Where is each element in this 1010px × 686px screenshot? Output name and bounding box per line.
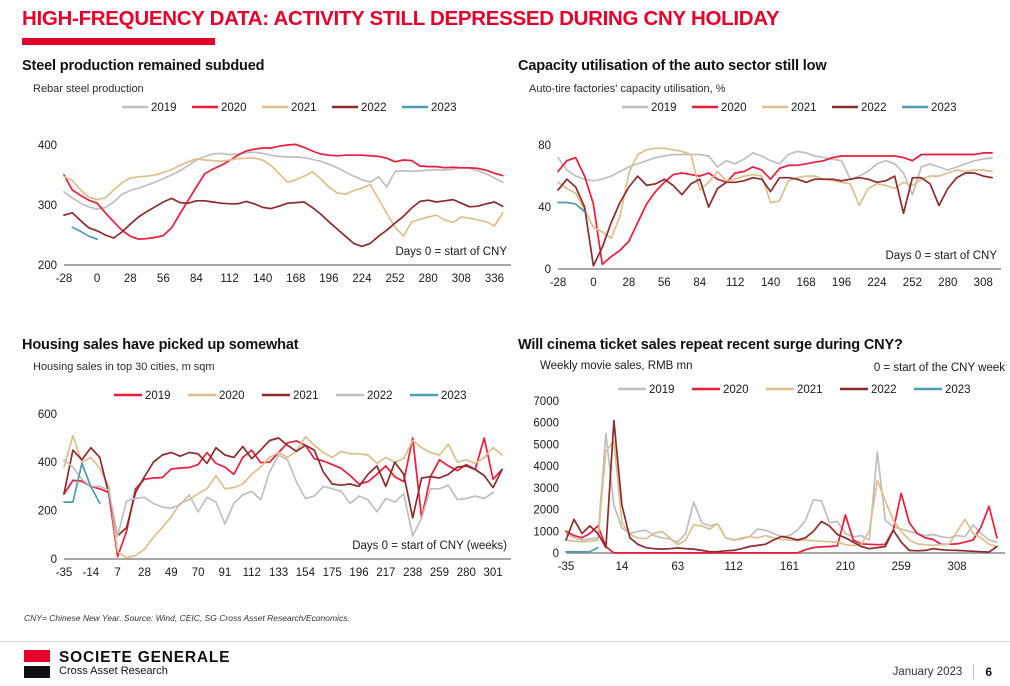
panel-cinema: Will cinema ticket sales repeat recent s… <box>518 337 1008 585</box>
x-tick-steel: 308 <box>452 273 471 285</box>
x-tick-steel: 196 <box>319 273 338 285</box>
footer-meta: January 2023 6 <box>893 664 992 679</box>
panel-capacity: Capacity utilisation of the auto sector … <box>518 58 1004 290</box>
x-tick-steel: 140 <box>253 273 272 285</box>
x-tick-cinema: 112 <box>724 561 742 573</box>
series-line-housing-2021 <box>64 438 502 536</box>
x-tick-capacity: 252 <box>903 277 922 289</box>
page-number: 6 <box>985 665 992 679</box>
x-tick-capacity: 224 <box>867 277 887 289</box>
sg-logo-black-block <box>24 666 50 678</box>
x-tick-steel: 84 <box>190 273 203 285</box>
x-tick-housing: 154 <box>296 567 316 579</box>
x-tick-steel: 28 <box>124 273 137 285</box>
legend-label-capacity-2021: 2021 <box>791 102 817 114</box>
y-tick-cinema: 2000 <box>533 505 559 517</box>
x-tick-steel: 112 <box>220 273 238 285</box>
panel-subtitle-housing: Housing sales in top 30 cities, m sqm <box>33 361 514 373</box>
legend-label-housing-2019: 2019 <box>145 390 171 402</box>
legend-label-housing-2022: 2022 <box>367 390 393 402</box>
x-tick-cinema: -35 <box>558 561 575 573</box>
y-tick-cinema: 5000 <box>533 439 559 451</box>
x-tick-capacity: -28 <box>550 277 567 289</box>
panel-steel: Steel production remained subdued Rebar … <box>22 58 514 290</box>
y-tick-steel: 300 <box>38 200 57 212</box>
y-tick-steel: 400 <box>38 140 57 152</box>
footer-divider <box>0 641 1010 642</box>
legend-label-cinema-2020: 2020 <box>723 384 749 396</box>
x-tick-housing: 91 <box>219 567 232 579</box>
legend-label-steel-2020: 2020 <box>221 102 247 114</box>
panel-title-capacity: Capacity utilisation of the auto sector … <box>518 58 1004 74</box>
legend-label-housing-2020: 2020 <box>219 390 245 402</box>
y-tick-cinema: 1000 <box>533 526 559 538</box>
series-line-cinema-2021 <box>566 441 997 546</box>
logo-tagline: Cross Asset Research <box>59 666 230 678</box>
panel-subtitle-cinema: Weekly movie sales, RMB mn <box>540 360 693 372</box>
chart-svg-capacity: Days 0 = start of CNY04080-2802856841121… <box>518 95 1004 290</box>
x-tick-capacity: 140 <box>761 277 780 289</box>
panel-title-steel: Steel production remained subdued <box>22 58 514 74</box>
y-tick-housing: 400 <box>38 457 57 469</box>
x-tick-capacity: 28 <box>622 277 635 289</box>
y-tick-housing: 200 <box>38 506 57 518</box>
x-tick-capacity: 112 <box>726 277 744 289</box>
footer-divider-vertical <box>973 664 974 679</box>
y-tick-cinema: 4000 <box>533 461 559 473</box>
panel-title-housing: Housing sales have picked up somewhat <box>22 337 514 353</box>
legend-label-steel-2023: 2023 <box>431 102 457 114</box>
x-tick-capacity: 196 <box>832 277 851 289</box>
series-line-steel-2019 <box>64 152 503 209</box>
legend-label-cinema-2022: 2022 <box>871 384 897 396</box>
x-tick-cinema: 259 <box>892 561 911 573</box>
source-footnote: CNY= Chinese New Year. Source: Wind, CEI… <box>24 613 350 623</box>
x-tick-housing: 175 <box>323 567 342 579</box>
x-tick-housing: 238 <box>403 567 422 579</box>
series-line-cinema-2022 <box>566 421 997 553</box>
x-tick-steel: 224 <box>352 273 372 285</box>
x-tick-cinema: 14 <box>615 561 628 573</box>
series-line-cinema-2020 <box>566 493 997 553</box>
x-tick-housing: 7 <box>114 567 120 579</box>
slide: HIGH-FREQUENCY DATA: ACTIVITY STILL DEPR… <box>0 0 1010 686</box>
x-tick-capacity: 0 <box>590 277 596 289</box>
axis-note-steel: Days 0 = start of CNY <box>395 246 507 258</box>
x-tick-steel: 0 <box>94 273 100 285</box>
sg-logo-icon <box>24 650 50 678</box>
logo-text: SOCIETE GENERALE Cross Asset Research <box>59 650 230 678</box>
x-tick-steel: -28 <box>56 273 73 285</box>
x-tick-steel: 56 <box>157 273 170 285</box>
x-tick-housing: 49 <box>165 567 178 579</box>
axis-note-cinema: 0 = start of the CNY week <box>874 362 1005 374</box>
axis-note-housing: Days 0 = start of CNY (weeks) <box>352 540 507 552</box>
x-tick-capacity: 84 <box>693 277 706 289</box>
legend-label-capacity-2023: 2023 <box>931 102 957 114</box>
y-tick-housing: 0 <box>51 554 57 566</box>
x-tick-steel: 336 <box>485 273 504 285</box>
x-tick-housing: 133 <box>269 567 288 579</box>
x-tick-capacity: 280 <box>938 277 957 289</box>
chart-housing: Days 0 = start of CNY (weeks)0200400600-… <box>22 373 514 585</box>
footer-date: January 2023 <box>893 666 963 678</box>
panel-subtitle-steel: Rebar steel production <box>33 83 514 95</box>
chart-svg-housing: Days 0 = start of CNY (weeks)0200400600-… <box>22 373 514 585</box>
x-tick-cinema: 161 <box>780 561 799 573</box>
panel-title-cinema: Will cinema ticket sales repeat recent s… <box>518 337 1008 353</box>
y-tick-steel: 200 <box>38 260 57 272</box>
y-tick-housing: 600 <box>38 409 57 421</box>
legend-label-cinema-2019: 2019 <box>649 384 675 396</box>
x-tick-housing: -35 <box>56 567 73 579</box>
y-tick-capacity: 0 <box>545 264 551 276</box>
legend-label-housing-2021: 2021 <box>293 390 319 402</box>
y-tick-cinema: 6000 <box>533 418 559 430</box>
x-tick-housing: 28 <box>138 567 151 579</box>
x-tick-housing: 196 <box>349 567 368 579</box>
panel-subtitle-capacity: Auto-tire factories' capacity utilisatio… <box>529 83 1004 95</box>
legend-label-capacity-2022: 2022 <box>861 102 887 114</box>
legend-label-steel-2022: 2022 <box>361 102 387 114</box>
series-line-cinema-2019 <box>566 434 997 542</box>
chart-capacity: Days 0 = start of CNY04080-2802856841121… <box>518 95 1004 290</box>
x-tick-cinema: 210 <box>836 561 855 573</box>
legend-label-cinema-2023: 2023 <box>945 384 971 396</box>
sg-logo-red-block <box>24 650 50 662</box>
series-line-steel-2022 <box>64 198 503 246</box>
x-tick-cinema: 63 <box>671 561 684 573</box>
x-tick-housing: 217 <box>376 567 395 579</box>
legend-label-steel-2021: 2021 <box>291 102 317 114</box>
chart-svg-steel: Days 0 = start of CNY200300400-280285684… <box>22 95 514 290</box>
x-tick-steel: 252 <box>386 273 405 285</box>
x-tick-capacity: 56 <box>658 277 671 289</box>
page-title: HIGH-FREQUENCY DATA: ACTIVITY STILL DEPR… <box>22 7 779 31</box>
x-tick-housing: 259 <box>430 567 449 579</box>
x-tick-housing: 301 <box>484 567 503 579</box>
y-tick-cinema: 7000 <box>533 396 559 408</box>
legend-label-cinema-2021: 2021 <box>797 384 823 396</box>
chart-steel: Days 0 = start of CNY200300400-280285684… <box>22 95 514 290</box>
y-tick-capacity: 40 <box>538 202 551 214</box>
x-tick-steel: 168 <box>286 273 305 285</box>
y-tick-capacity: 80 <box>538 140 551 152</box>
y-tick-cinema: 0 <box>553 548 559 560</box>
chart-cinema: Weekly movie sales, RMB mn0 = start of t… <box>518 357 1008 585</box>
axis-note-capacity: Days 0 = start of CNY <box>885 250 997 262</box>
x-tick-cinema: 308 <box>948 561 967 573</box>
x-tick-capacity: 308 <box>974 277 993 289</box>
x-tick-housing: 280 <box>457 567 476 579</box>
y-tick-cinema: 3000 <box>533 483 559 495</box>
x-tick-housing: 70 <box>192 567 205 579</box>
x-tick-capacity: 168 <box>796 277 815 289</box>
x-tick-housing: -14 <box>83 567 100 579</box>
legend-label-capacity-2019: 2019 <box>651 102 677 114</box>
panel-housing: Housing sales have picked up somewhat Ho… <box>22 337 514 585</box>
title-underline <box>22 38 215 45</box>
x-tick-steel: 280 <box>419 273 438 285</box>
societe-generale-logo: SOCIETE GENERALE Cross Asset Research <box>24 650 230 678</box>
legend-label-housing-2023: 2023 <box>441 390 467 402</box>
x-tick-housing: 112 <box>243 567 261 579</box>
legend-label-capacity-2020: 2020 <box>721 102 747 114</box>
legend-label-steel-2019: 2019 <box>151 102 177 114</box>
series-line-cinema-2023 <box>566 548 598 552</box>
chart-svg-cinema: Weekly movie sales, RMB mn0 = start of t… <box>518 357 1008 585</box>
logo-company-name: SOCIETE GENERALE <box>59 650 230 666</box>
